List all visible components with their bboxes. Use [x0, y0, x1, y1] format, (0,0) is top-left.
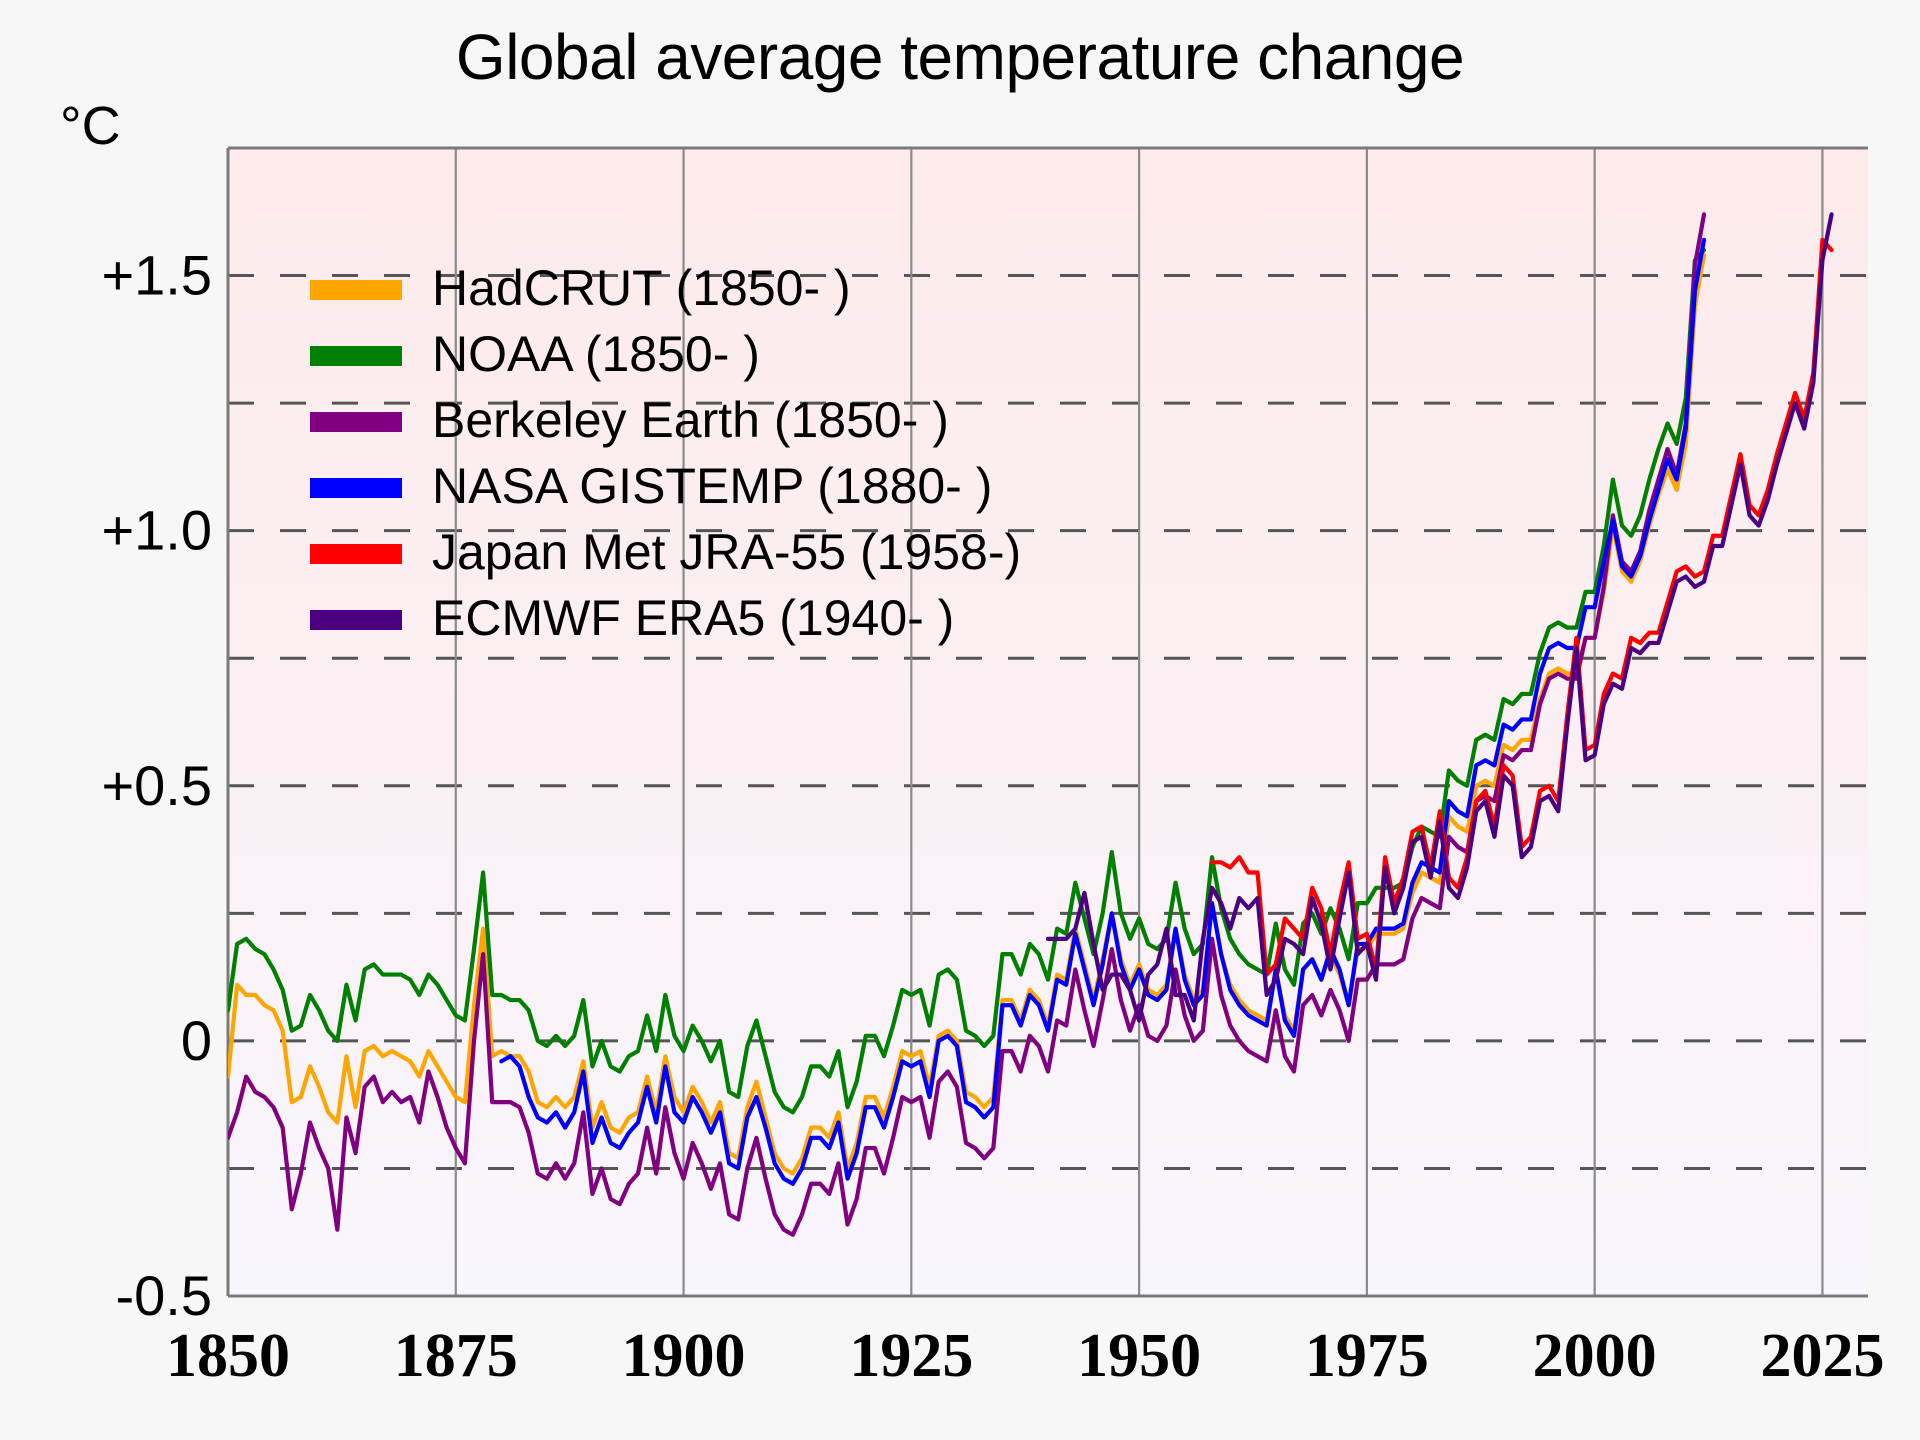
x-tick-label-7: 2025	[1760, 1322, 1884, 1390]
legend-label-2: Berkeley Earth (1850- )	[432, 392, 949, 448]
x-tick-label-5: 1975	[1305, 1322, 1429, 1390]
legend-swatch-2	[310, 412, 402, 432]
y-tick-label-0: +1.5	[101, 244, 212, 307]
y-axis-tick-labels: +1.5+1.0+0.50-0.5	[101, 244, 212, 1327]
legend-swatch-1	[310, 346, 402, 366]
legend-label-4: Japan Met JRA-55 (1958-)	[432, 524, 1021, 580]
x-tick-label-2: 1900	[622, 1322, 746, 1390]
x-tick-label-3: 1925	[849, 1322, 973, 1390]
legend-label-1: NOAA (1850- )	[432, 326, 760, 382]
legend-label-0: HadCRUT (1850- )	[432, 260, 851, 316]
chart-page: Global average temperature change °C +1.…	[0, 0, 1920, 1440]
legend-swatch-4	[310, 544, 402, 564]
legend-label-3: NASA GISTEMP (1880- )	[432, 458, 992, 514]
x-tick-label-0: 1850	[166, 1322, 290, 1390]
y-tick-label-3: 0	[181, 1009, 212, 1072]
legend-swatch-0	[310, 280, 402, 300]
temperature-line-chart: +1.5+1.0+0.50-0.5 1850187519001925195019…	[0, 0, 1920, 1440]
x-tick-label-6: 2000	[1533, 1322, 1657, 1390]
y-tick-label-2: +0.5	[101, 754, 212, 817]
y-tick-label-4: -0.5	[116, 1264, 213, 1327]
legend-swatch-3	[310, 478, 402, 498]
plot-background	[228, 148, 1868, 1296]
legend-swatch-5	[310, 610, 402, 630]
x-tick-label-1: 1875	[394, 1322, 518, 1390]
legend-label-5: ECMWF ERA5 (1940- )	[432, 590, 954, 646]
x-axis-tick-labels: 18501875190019251950197520002025	[166, 1322, 1884, 1390]
y-tick-label-1: +1.0	[101, 499, 212, 562]
x-tick-label-4: 1950	[1077, 1322, 1201, 1390]
